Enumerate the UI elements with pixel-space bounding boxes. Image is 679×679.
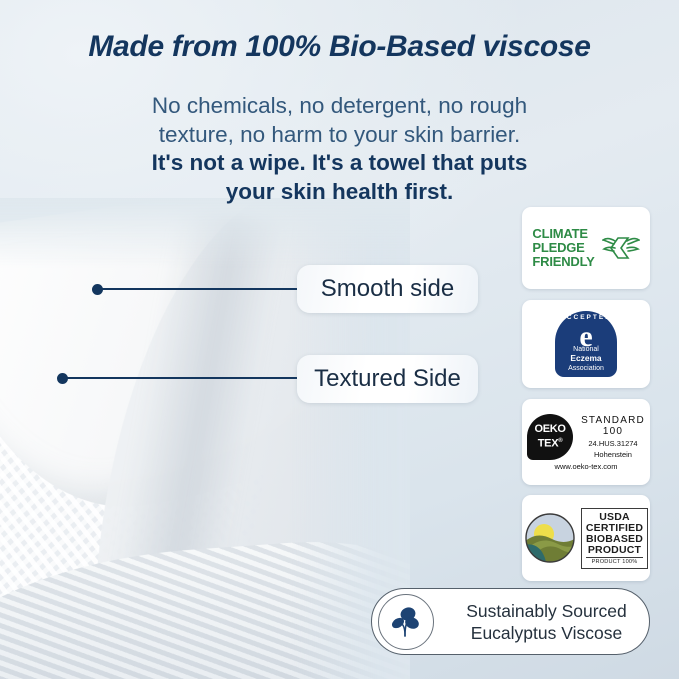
subheadline-line-4: your skin health first. [0, 178, 679, 207]
eucalyptus-icon-circle [378, 594, 434, 650]
usda-footnote: PRODUCT 100% [586, 557, 643, 565]
badge-usda-certified-biobased: USDA CERTIFIED BIOBASED PRODUCT PRODUCT … [522, 495, 650, 581]
oeko-tex-institute: Hohenstein [581, 450, 645, 459]
headline: Made from 100% Bio-Based viscose [0, 30, 679, 64]
subheadline-line-2: texture, no harm to your skin barrier. [0, 121, 679, 150]
oeko-tex-mark: OEKO TEX® [527, 414, 573, 460]
leader-line-smooth [100, 288, 300, 290]
oeko-tex-registered: ® [558, 438, 562, 444]
oeko-tex-cert-id: 24.HUS.31274 [581, 439, 645, 448]
oeko-tex-standard: STANDARD [581, 415, 645, 426]
climate-pledge-line-1: CLIMATE [532, 227, 594, 241]
photo-top-fade [0, 198, 410, 268]
subheadline-line-3: It's not a wipe. It's a towel that puts [0, 149, 679, 178]
eucalyptus-line-1: Sustainably Sourced [444, 600, 649, 622]
eucalyptus-line-2: Eucalyptus Viscose [444, 622, 649, 644]
eucalyptus-leaf-icon [389, 605, 423, 639]
callout-smooth-side-label: Smooth side [321, 275, 454, 303]
usda-line-4: PRODUCT [586, 545, 643, 556]
eczema-org-line-3: Association [568, 365, 604, 373]
oeko-tex-mark-line-2: TEX [538, 438, 559, 450]
usda-line-2: CERTIFIED [586, 523, 643, 534]
oeko-tex-mark-line-1: OEKO [534, 423, 565, 435]
callout-smooth-side: Smooth side [297, 265, 478, 313]
eczema-monogram: e [555, 322, 617, 352]
winged-hourglass-icon [602, 231, 640, 265]
climate-pledge-line-3: FRIENDLY [532, 255, 594, 269]
callout-textured-side-label: Textured Side [314, 365, 461, 393]
climate-pledge-line-2: PLEDGE [532, 241, 594, 255]
leader-line-textured [65, 377, 300, 379]
eucalyptus-text: Sustainably Sourced Eucalyptus Viscose [444, 600, 649, 644]
eczema-org-line-2: Eczema [570, 353, 601, 363]
badge-oeko-tex: OEKO TEX® STANDARD 100 24.HUS.31274 Hohe… [522, 399, 650, 485]
callout-textured-side: Textured Side [297, 355, 478, 403]
sun-field-circle-icon [524, 512, 576, 564]
badge-national-eczema-association: ACCEPTED e National Eczema Association [522, 300, 650, 388]
usda-line-1: USDA [586, 512, 643, 523]
oeko-tex-url: www.oeko-tex.com [555, 462, 618, 471]
usda-line-3: BIOBASED [586, 534, 643, 545]
subheadline: No chemicals, no detergent, no rough tex… [0, 92, 679, 206]
oeko-tex-number: 100 [581, 426, 645, 437]
climate-pledge-text: CLIMATE PLEDGE FRIENDLY [532, 227, 594, 269]
product-feature-image: Made from 100% Bio-Based viscose No chem… [0, 0, 679, 679]
eczema-shield: ACCEPTED e National Eczema Association [555, 311, 617, 377]
badge-climate-pledge-friendly: CLIMATE PLEDGE FRIENDLY [522, 207, 650, 289]
usda-text-block: USDA CERTIFIED BIOBASED PRODUCT PRODUCT … [581, 508, 648, 569]
subheadline-line-1: No chemicals, no detergent, no rough [0, 92, 679, 121]
eucalyptus-callout: Sustainably Sourced Eucalyptus Viscose [371, 588, 650, 655]
